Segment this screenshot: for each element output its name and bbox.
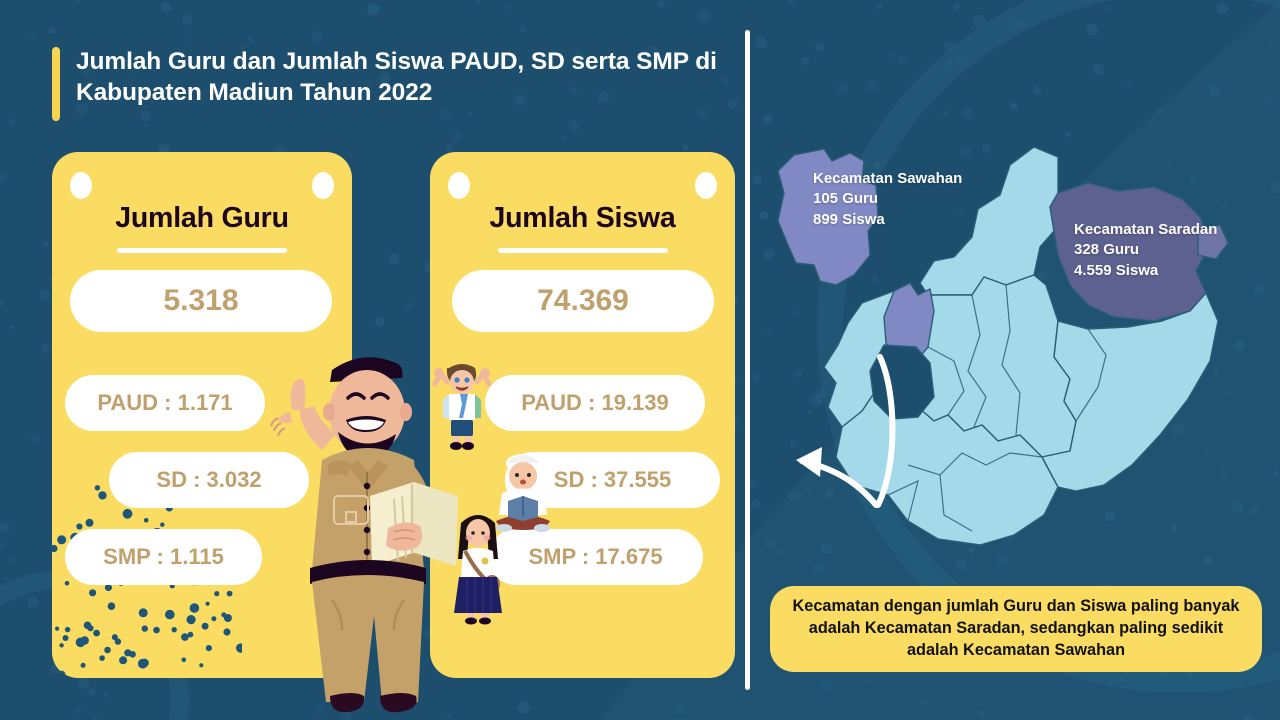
left-panel-title: Jumlah Guru dan Jumlah Siswa PAUD, SD se… xyxy=(52,47,736,121)
guru-smp-pill: SMP : 1.115 xyxy=(65,529,262,585)
map-caption-text: Kecamatan dengan jumlah Guru dan Siswa p… xyxy=(788,596,1244,661)
map-label-sawahan: Kecamatan Sawahan 105 Guru 899 Siswa xyxy=(813,169,962,230)
card-title-underline xyxy=(498,248,668,253)
siswa-paud-pill: PAUD : 19.139 xyxy=(485,375,705,431)
card-hole-top-right-icon xyxy=(695,172,717,199)
map-label-saradan-guru: 328 Guru xyxy=(1074,240,1217,260)
siswa-smp-pill: SMP : 17.675 xyxy=(488,529,703,585)
map-label-saradan-siswa: 4.559 Siswa xyxy=(1074,261,1217,281)
card-title-siswa: Jumlah Siswa xyxy=(430,202,735,235)
title-accent-bar xyxy=(52,47,60,121)
map-label-sawahan-guru: 105 Guru xyxy=(813,189,962,209)
map-region-east xyxy=(1042,293,1218,491)
left-panel: Jumlah Guru dan Jumlah Siswa PAUD, SD se… xyxy=(0,0,748,720)
map-label-saradan-name: Kecamatan Saradan xyxy=(1074,220,1217,240)
left-title-text: Jumlah Guru dan Jumlah Siswa PAUD, SD se… xyxy=(76,47,736,108)
madiun-district-map[interactable]: Kecamatan Sawahan 105 Guru 899 Siswa Kec… xyxy=(758,135,1270,575)
card-hole-top-right-icon xyxy=(312,172,334,199)
card-hole-top-left-icon xyxy=(70,172,92,199)
siswa-total-pill: 74.369 xyxy=(452,270,714,332)
map-label-sawahan-siswa: 899 Siswa xyxy=(813,210,962,230)
map-caption-box: Kecamatan dengan jumlah Guru dan Siswa p… xyxy=(770,586,1262,672)
teacher-illustration xyxy=(262,300,477,720)
card-hole-top-left-icon xyxy=(448,172,470,199)
map-label-saradan: Kecamatan Saradan 328 Guru 4.559 Siswa xyxy=(1074,220,1217,281)
map-label-sawahan-name: Kecamatan Sawahan xyxy=(813,169,962,189)
card-title-guru: Jumlah Guru xyxy=(52,202,352,235)
guru-paud-pill: PAUD : 1.171 xyxy=(65,375,265,431)
card-title-underline xyxy=(117,248,287,253)
